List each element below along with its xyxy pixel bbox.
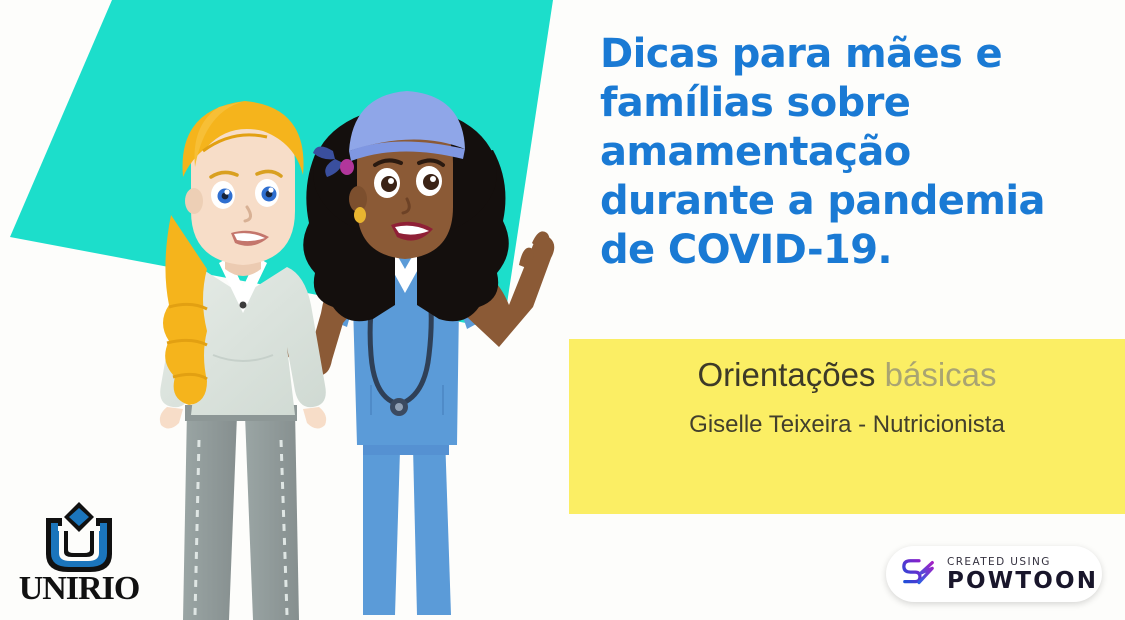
powtoon-brand-label: POWTOON — [947, 569, 1098, 593]
powtoon-created-using-label: CREATED USING — [947, 556, 1098, 568]
powtoon-badge[interactable]: CREATED USING POWTOON — [886, 546, 1102, 602]
title-line-3: amamentação — [600, 128, 1100, 177]
subtitle-strong: Orientações — [698, 356, 876, 393]
title-line-2: famílias sobre — [600, 79, 1100, 128]
unirio-wordmark: UNIRIO — [14, 570, 144, 608]
unirio-u-diamond-mark — [32, 500, 126, 574]
powtoon-text: CREATED USING POWTOON — [947, 556, 1098, 593]
title-line-5: de COVID-19. — [600, 226, 1100, 275]
title-line-1: Dicas para mães e — [600, 30, 1100, 79]
subtitle-heading: Orientações básicas — [569, 355, 1125, 395]
subtitle-panel: Orientações básicas Giselle Teixeira - N… — [569, 339, 1125, 514]
presenter-byline: Giselle Teixeira - Nutricionista — [569, 411, 1125, 439]
slide-title: Dicas para mães e famílias sobre amament… — [600, 30, 1100, 275]
title-line-4: durante a pandemia — [600, 177, 1100, 226]
slide-canvas: Dicas para mães e famílias sobre amament… — [0, 0, 1125, 620]
teal-background-shape — [0, 0, 620, 330]
subtitle-light: básicas — [885, 356, 997, 393]
powtoon-logo-icon — [900, 556, 938, 592]
unirio-logo: UNIRIO — [14, 500, 144, 610]
illustration-two-women — [95, 55, 615, 620]
